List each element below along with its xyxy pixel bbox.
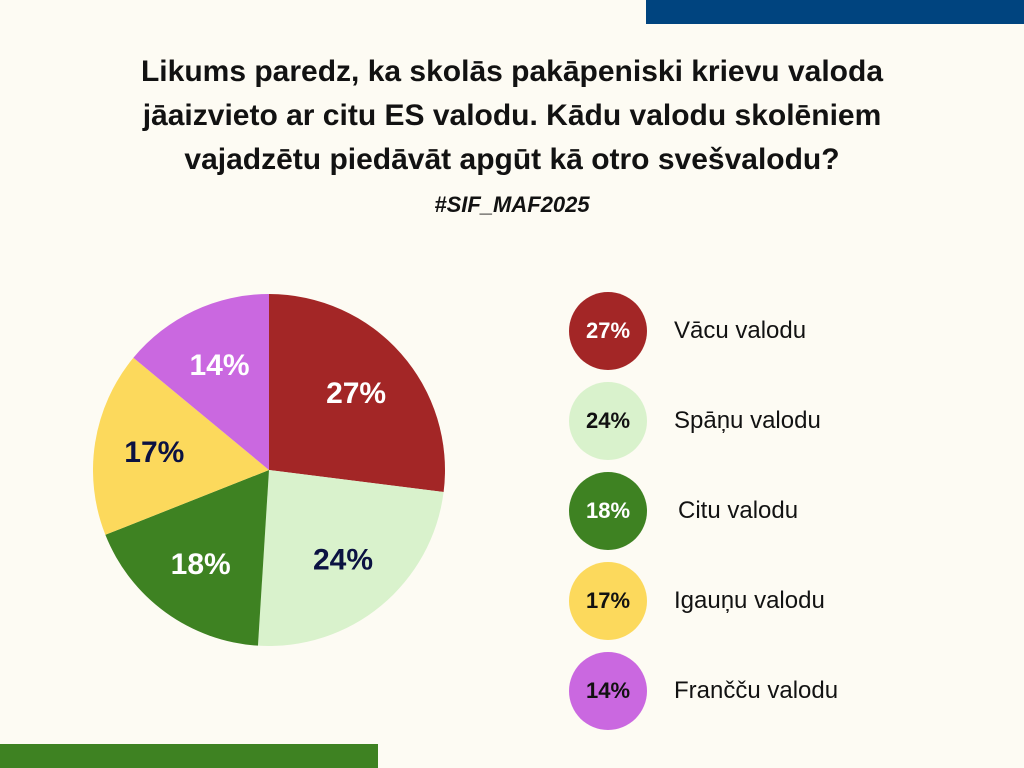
pie-slice-value-label: 18% [171,548,231,581]
legend-swatch-percent: 27% [569,292,647,370]
title-block: Likums paredz, ka skolās pakāpeniski kri… [62,50,962,220]
pie-chart: 27%24%18%17%14% [93,294,445,646]
legend-swatch-percent: 17% [569,562,647,640]
page-title-line-1: Likums paredz, ka skolās pakāpeniski kri… [62,50,962,94]
pie-slice-value-label: 27% [326,377,386,410]
legend-swatch-percent: 24% [569,382,647,460]
legend-item[interactable]: 17%Igauņu valodu [569,562,989,640]
accent-bar-bottom-left [0,744,378,768]
pie-slice-value-label: 24% [313,544,373,577]
legend-item[interactable]: 14%Frančču valodu [569,652,989,730]
legend-item[interactable]: 18%Citu valodu [569,472,989,550]
legend-item-label: Citu valodu [678,497,798,525]
pie-chart-svg: 27%24%18%17%14% [93,294,445,646]
legend-item[interactable]: 24%Spāņu valodu [569,382,989,460]
legend-item-label: Frančču valodu [674,677,838,705]
chart-legend: 27%Vācu valodu24%Spāņu valodu18%Citu val… [569,292,989,732]
legend-item[interactable]: 27%Vācu valodu [569,292,989,370]
legend-item-label: Vācu valodu [674,317,806,345]
pie-slice-value-label: 14% [189,349,249,382]
page-title-line-3: vajadzētu piedāvāt apgūt kā otro svešval… [62,138,962,182]
slide-canvas: Likums paredz, ka skolās pakāpeniski kri… [0,0,1024,768]
legend-item-label: Spāņu valodu [674,407,821,435]
legend-swatch-percent: 18% [569,472,647,550]
pie-slice-value-label: 17% [124,436,184,469]
pie-slice-group [93,294,445,646]
page-subtitle-hashtag: #SIF_MAF2025 [62,190,962,220]
legend-swatch-percent: 14% [569,652,647,730]
accent-bar-top-right [646,0,1024,24]
legend-item-label: Igauņu valodu [674,587,825,615]
page-title-line-2: jāaizvieto ar citu ES valodu. Kādu valod… [62,94,962,138]
